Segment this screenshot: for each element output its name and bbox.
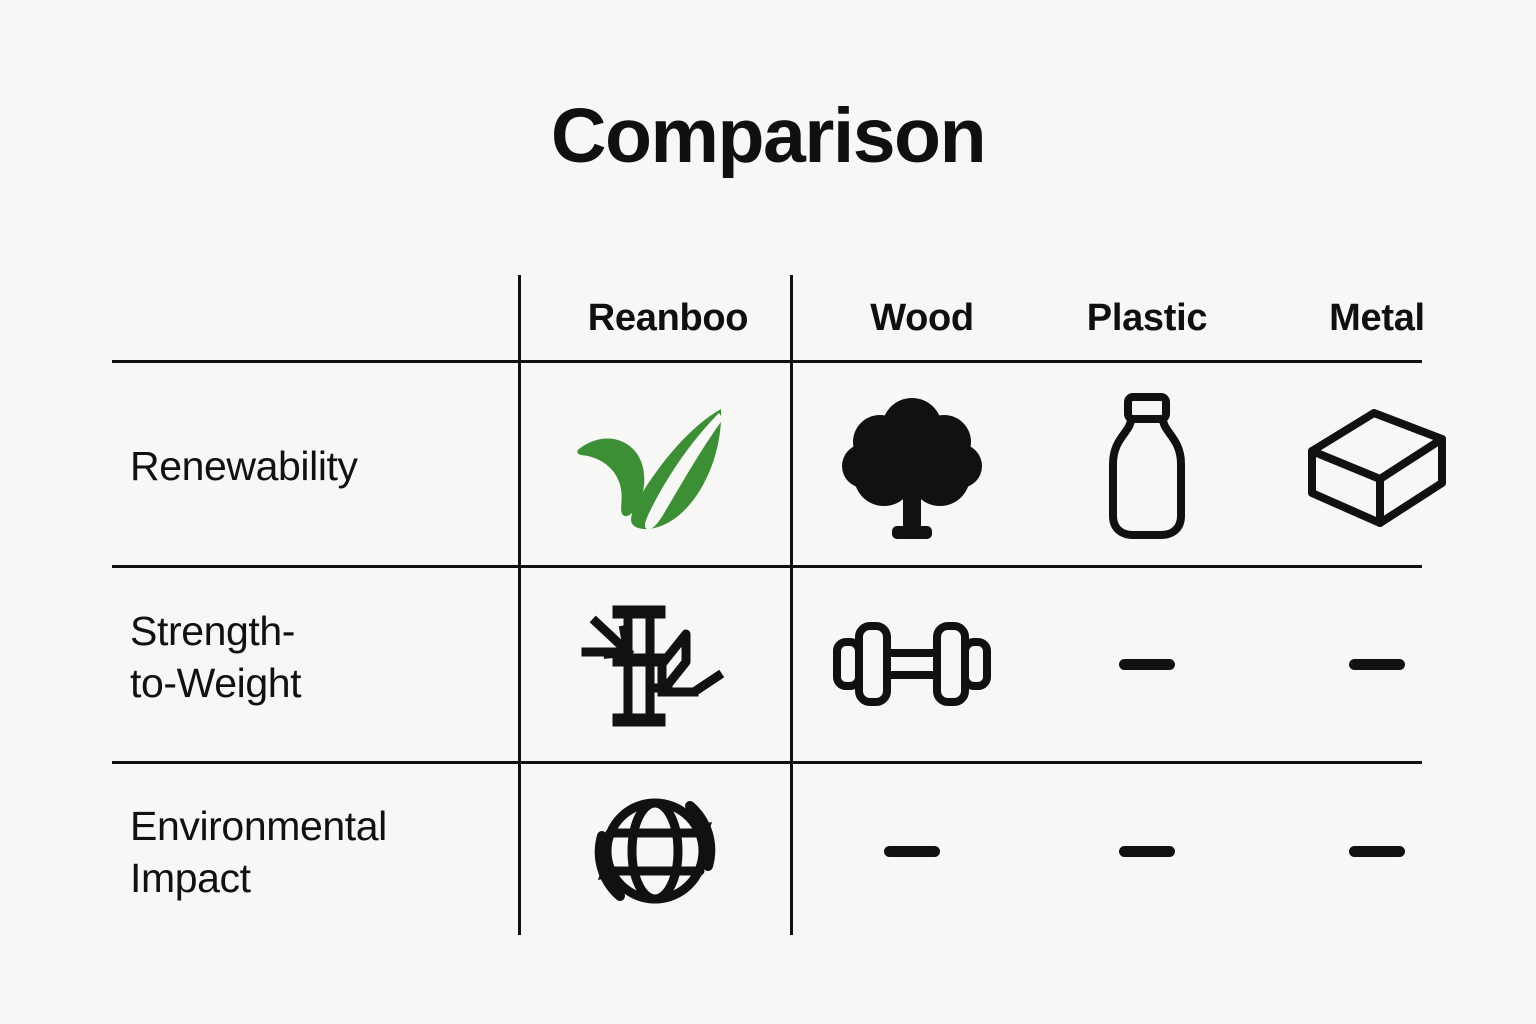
cell-strength-metal xyxy=(1262,570,1492,758)
leaf-icon xyxy=(571,391,739,541)
row-label-environmental-impact: Environmental Impact xyxy=(130,800,510,905)
dash-icon xyxy=(1349,846,1405,857)
cell-environmental-plastic xyxy=(1032,767,1262,935)
comparison-slide: Comparison Reanboo Wood Plastic Metal Re… xyxy=(0,0,1536,1024)
dash-icon xyxy=(1119,659,1175,670)
bottle-icon xyxy=(1097,392,1197,540)
column-header-reanboo: Reanboo xyxy=(548,289,788,347)
table-column-rule-1 xyxy=(518,275,521,935)
dumbbell-icon xyxy=(833,620,991,708)
column-header-plastic: Plastic xyxy=(1032,289,1262,347)
cell-renewability-reanboo xyxy=(522,371,788,561)
table-row-rule-1 xyxy=(112,565,1422,568)
cell-strength-plastic xyxy=(1032,570,1262,758)
cell-renewability-metal xyxy=(1262,371,1492,561)
dash-icon xyxy=(1349,659,1405,670)
cell-environmental-metal xyxy=(1262,767,1492,935)
cell-strength-reanboo xyxy=(522,570,788,758)
dash-icon xyxy=(884,846,940,857)
comparison-table: Reanboo Wood Plastic Metal Renewability … xyxy=(112,275,1422,937)
tree-icon xyxy=(842,390,982,542)
row-label-strength-to-weight: Strength- to-Weight xyxy=(130,605,510,710)
cell-strength-wood xyxy=(792,570,1032,758)
page-title: Comparison xyxy=(0,98,1536,175)
table-row-rule-2 xyxy=(112,761,1422,764)
column-header-metal: Metal xyxy=(1262,289,1492,347)
table-header-rule xyxy=(112,360,1422,363)
cell-renewability-wood xyxy=(792,371,1032,561)
cell-environmental-wood xyxy=(792,767,1032,935)
dash-icon xyxy=(1119,846,1175,857)
cell-environmental-reanboo xyxy=(522,767,788,935)
box-icon xyxy=(1302,401,1452,531)
bamboo-icon xyxy=(582,596,728,732)
column-header-wood: Wood xyxy=(812,289,1032,347)
cell-renewability-plastic xyxy=(1032,371,1262,561)
globe-recycle-icon xyxy=(586,782,724,920)
row-label-renewability: Renewability xyxy=(130,440,510,492)
